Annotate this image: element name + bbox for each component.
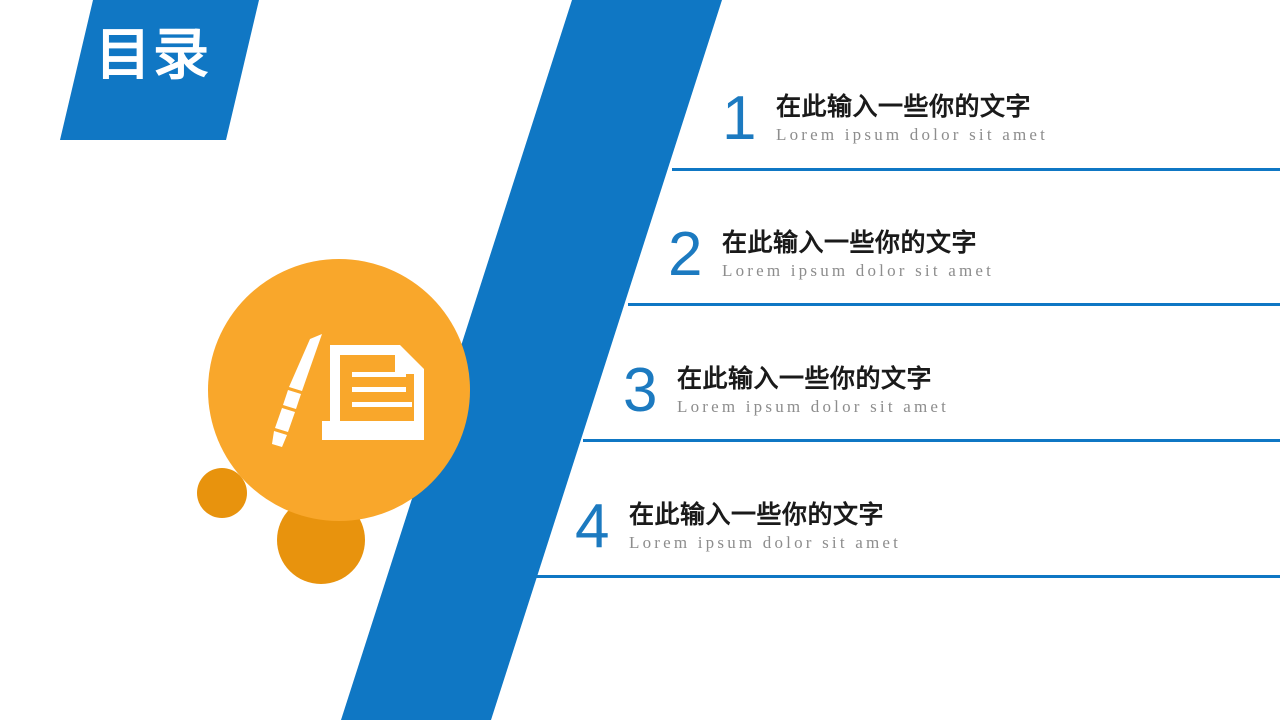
agenda-item-4[interactable]: 4 在此输入一些你的文字 Lorem ipsum dolor sit amet: [575, 500, 1280, 600]
agenda-item-number: 4: [575, 496, 609, 558]
accent-circle-small: [197, 468, 247, 518]
agenda-item-title: 在此输入一些你的文字: [776, 92, 1048, 122]
agenda-item-divider: [628, 303, 1280, 306]
agenda-item-number: 1: [722, 88, 756, 150]
agenda-item-subtitle: Lorem ipsum dolor sit amet: [677, 397, 949, 417]
agenda-item-number: 3: [623, 360, 657, 422]
agenda-item-divider: [535, 575, 1280, 578]
agenda-item-subtitle: Lorem ipsum dolor sit amet: [629, 533, 901, 553]
agenda-item-title: 在此输入一些你的文字: [629, 500, 901, 530]
agenda-item-number: 2: [668, 224, 702, 286]
agenda-item-subtitle: Lorem ipsum dolor sit amet: [776, 125, 1048, 145]
agenda-item-3[interactable]: 3 在此输入一些你的文字 Lorem ipsum dolor sit amet: [623, 364, 1280, 464]
agenda-item-divider: [583, 439, 1280, 442]
agenda-item-texts: 在此输入一些你的文字 Lorem ipsum dolor sit amet: [629, 500, 901, 553]
agenda-item-1[interactable]: 1 在此输入一些你的文字 Lorem ipsum dolor sit amet: [722, 92, 1280, 192]
agenda-item-texts: 在此输入一些你的文字 Lorem ipsum dolor sit amet: [677, 364, 949, 417]
slide-canvas: 目录 1 在此输入一些你的文字 Lorem ipsum dolor sit am…: [0, 0, 1280, 720]
page-title: 目录: [95, 28, 211, 84]
agenda-item-texts: 在此输入一些你的文字 Lorem ipsum dolor sit amet: [722, 228, 994, 281]
slide-title-block: 目录: [0, 0, 360, 140]
agenda-item-texts: 在此输入一些你的文字 Lorem ipsum dolor sit amet: [776, 92, 1048, 145]
agenda-item-title: 在此输入一些你的文字: [677, 364, 949, 394]
agenda-item-title: 在此输入一些你的文字: [722, 228, 994, 258]
agenda-item-2[interactable]: 2 在此输入一些你的文字 Lorem ipsum dolor sit amet: [668, 228, 1280, 328]
agenda-item-divider: [672, 168, 1280, 171]
agenda-item-subtitle: Lorem ipsum dolor sit amet: [722, 261, 994, 281]
